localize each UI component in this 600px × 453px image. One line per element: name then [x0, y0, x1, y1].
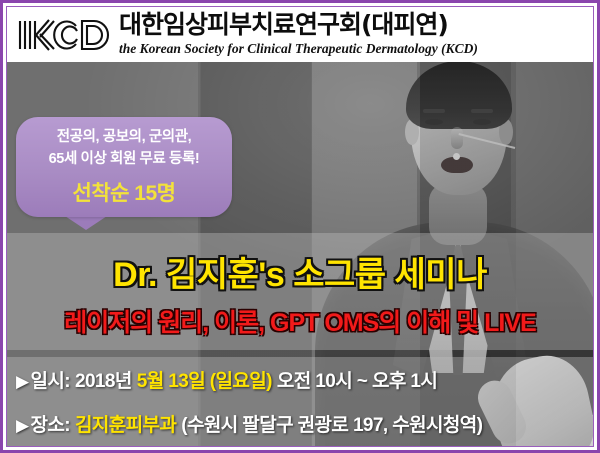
speaker-nose	[451, 127, 463, 149]
speaker-eye-right	[473, 119, 491, 125]
bubble-capacity-highlight: 선착순 15명	[73, 177, 176, 207]
speaker-brow-right	[471, 109, 493, 113]
kcd-logo-icon	[15, 14, 111, 56]
bubble-line-2: 65세 이상 회원 무료 등록!	[49, 149, 200, 170]
seminar-subtitle: 레이저의 원리, 이론, GPT OMS의 이해 및 LIVE	[0, 303, 600, 339]
triangle-bullet-icon: ▶	[16, 417, 28, 434]
free-registration-bubble: 전공의, 공보의, 군의관, 65세 이상 회원 무료 등록! 선착순 15명	[16, 117, 232, 217]
header-bar: 대한임상피부치료연구회(대피연) the Korean Society for …	[7, 7, 593, 62]
venue-address: (수원시 팔달구 권광로 197, 수원시청역)	[181, 410, 482, 437]
venue-line: ▶ 장소: 김지훈피부과 (수원시 팔달구 권광로 197, 수원시청역)	[16, 410, 482, 437]
bubble-line-1: 전공의, 공보의, 군의관,	[57, 127, 192, 148]
speaker-eye-left	[425, 119, 443, 125]
speaker-hair	[406, 61, 512, 129]
seminar-poster: 대한임상피부치료연구회(대피연) the Korean Society for …	[0, 0, 600, 453]
date-line: ▶ 일시: 2018년 5월 13일 (일요일) 오전 10시 ~ 오후 1시	[16, 366, 437, 393]
society-name-ko: 대한임상피부치료연구회(대피연)	[119, 12, 478, 38]
date-highlight: 5월 13일 (일요일)	[137, 366, 272, 393]
headset-microphone-tip-icon	[453, 153, 460, 160]
society-name-en: the Korean Society for Clinical Therapeu…	[119, 41, 478, 57]
venue-label: 장소:	[30, 410, 70, 437]
triangle-bullet-icon: ▶	[16, 373, 28, 390]
seminar-title: Dr. 김지훈's 소그룹 세미나	[0, 247, 600, 296]
date-year: 2018년	[75, 366, 132, 393]
date-time: 오전 10시 ~ 오후 1시	[277, 366, 437, 393]
header-text-block: 대한임상피부치료연구회(대피연) the Korean Society for …	[119, 12, 478, 56]
venue-highlight: 김지훈피부과	[75, 410, 176, 437]
speaker-brow-left	[423, 109, 445, 113]
date-label: 일시:	[30, 366, 70, 393]
